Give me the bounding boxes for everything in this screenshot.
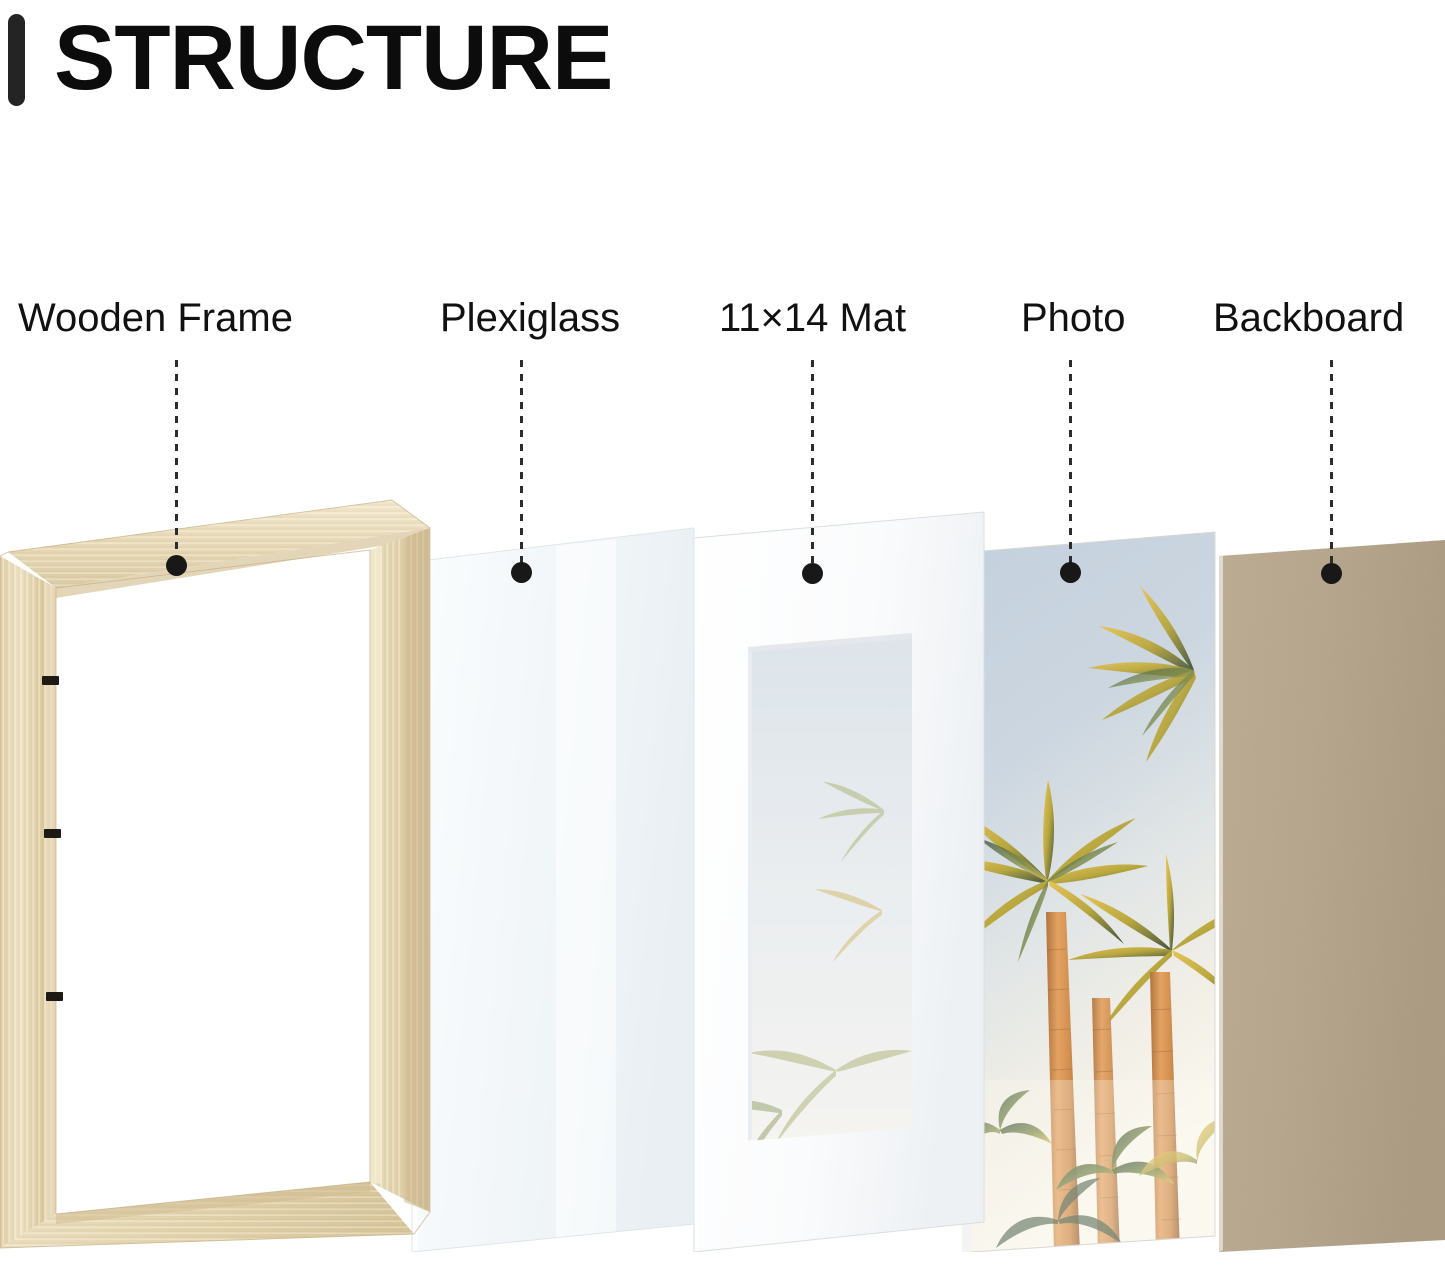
label-mat: 11×14 Mat bbox=[719, 296, 906, 340]
frame-clip-2 bbox=[44, 829, 61, 838]
leader-line-plexiglass bbox=[520, 360, 523, 567]
page-title: STRUCTURE bbox=[54, 6, 612, 110]
title-accent-bar bbox=[8, 14, 25, 106]
layer-wooden-frame[interactable] bbox=[0, 492, 440, 1252]
page-header: STRUCTURE bbox=[0, 0, 1445, 130]
leader-line-wooden-frame bbox=[175, 360, 178, 560]
label-wooden-frame: Wooden Frame bbox=[18, 296, 293, 340]
label-backboard: Backboard bbox=[1213, 296, 1404, 340]
leader-dot-plexiglass bbox=[511, 562, 532, 583]
frame-clip-1 bbox=[42, 676, 59, 685]
layer-plexiglass[interactable] bbox=[406, 524, 706, 1252]
leader-line-mat bbox=[811, 360, 814, 568]
layer-mat[interactable] bbox=[686, 510, 996, 1252]
label-photo: Photo bbox=[1021, 296, 1126, 340]
label-plexiglass: Plexiglass bbox=[440, 296, 620, 340]
layer-backboard[interactable] bbox=[1215, 540, 1445, 1252]
frame-clip-3 bbox=[46, 992, 63, 1001]
layer-photo[interactable] bbox=[962, 520, 1224, 1252]
leader-dot-mat bbox=[802, 563, 823, 584]
leader-dot-photo bbox=[1060, 562, 1081, 583]
leader-line-photo bbox=[1069, 360, 1072, 567]
leader-dot-backboard bbox=[1321, 563, 1342, 584]
structure-diagram: STRUCTURE bbox=[0, 0, 1445, 1272]
leader-line-backboard bbox=[1330, 360, 1333, 568]
leader-dot-wooden-frame bbox=[166, 555, 187, 576]
